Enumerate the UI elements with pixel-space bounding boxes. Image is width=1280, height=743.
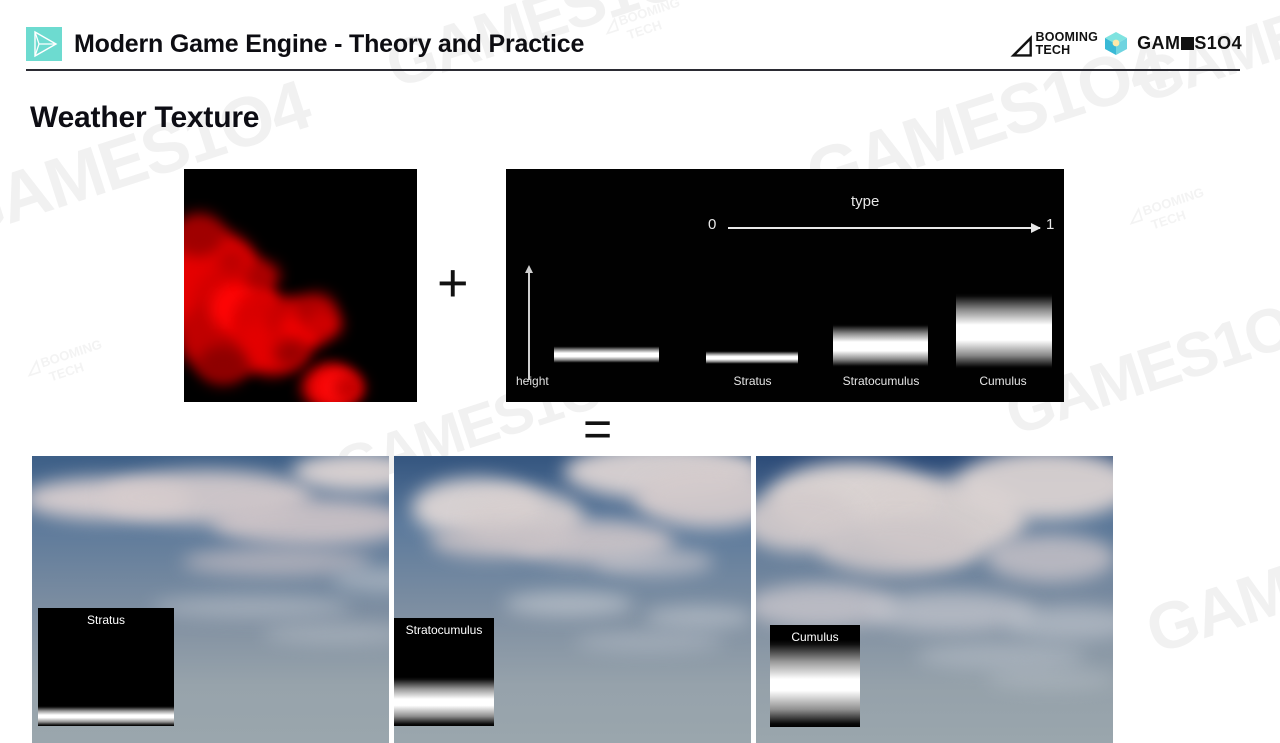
slide-header: Modern Game Engine - Theory and Practice…	[0, 0, 1280, 78]
stratocumulus-sky-photo: Stratocumulus	[394, 456, 751, 743]
games-text-after: S1O4	[1194, 33, 1242, 53]
booming-line2: TECH	[1035, 43, 1070, 57]
watermark-b-mark: ◿	[23, 357, 41, 377]
coverage-noise-texture	[184, 169, 417, 402]
type-axis-arrow	[728, 227, 1040, 229]
watermark-booming-line1: BOOMING	[39, 336, 104, 370]
plus-operator: +	[437, 256, 469, 310]
cloud-shape	[430, 524, 550, 558]
watermark-booming-tech: ◿BOOMING TECH	[23, 336, 108, 389]
games-cube-icon	[1103, 30, 1129, 56]
density-bar-stratocumulus	[833, 324, 928, 367]
bar-caption-stratocumulus: Stratocumulus	[826, 374, 936, 388]
cloud-shape	[644, 606, 751, 628]
cumulus-density-inset: Cumulus	[770, 625, 860, 727]
cloud-shape	[574, 632, 724, 652]
watermark-booming-line1: BOOMING	[1141, 184, 1206, 218]
cloud-shape	[594, 548, 714, 576]
booming-b-mark-icon: ◿	[1011, 31, 1031, 57]
games104-wordmark: GAMS1O4	[1137, 33, 1242, 54]
type-axis-label: type	[851, 193, 879, 210]
cloud-shape	[504, 592, 634, 616]
density-bar-stratus	[706, 351, 798, 364]
inset-caption-stratus: Stratus	[38, 613, 174, 627]
bar-caption-cumulus: Cumulus	[953, 374, 1053, 388]
cloud-shape	[986, 668, 1113, 690]
cloud-shape	[916, 642, 1086, 670]
brand-games104-logo: GAMS1O4	[1103, 30, 1242, 56]
booming-tech-wordmark: BOOMING TECH	[1035, 31, 1098, 57]
inset-caption-stratocumulus: Stratocumulus	[394, 623, 494, 637]
type-axis-max-label: 1	[1046, 216, 1054, 233]
equals-operator: =	[583, 404, 612, 454]
brand-booming-tech-logo: ◿ BOOMING TECH	[1011, 31, 1098, 57]
watermark-b-mark: ◿	[1125, 205, 1143, 225]
page-title: Weather Texture	[30, 101, 259, 135]
height-axis-label: height	[516, 374, 549, 388]
cloud-shape	[816, 518, 976, 574]
cloud-type-height-panel: type 0 1 height Stratus Stratocumulus Cu…	[506, 169, 1064, 402]
play-triangle-wireframe-icon	[26, 27, 62, 61]
bar-caption-stratus: Stratus	[705, 374, 800, 388]
inset-caption-cumulus: Cumulus	[770, 630, 860, 644]
cumulus-sky-photo: Cumulus	[756, 456, 1113, 743]
stratocumulus-density-inset: Stratocumulus	[394, 618, 494, 726]
inset-density-band	[394, 677, 494, 726]
watermark-booming-tech: ◿BOOMING TECH	[1125, 184, 1210, 237]
watermark-games-text: GAMES1O4	[1137, 488, 1280, 669]
watermark-booming-line2: TECH	[1149, 207, 1187, 232]
cloud-shape	[152, 596, 352, 618]
games-block-glyph	[1181, 37, 1194, 50]
result-photo-strip: Stratus Stratocumulus	[32, 456, 1117, 743]
cloud-shape	[986, 534, 1113, 582]
density-bar-cumulus	[956, 293, 1052, 369]
stratus-density-inset: Stratus	[38, 608, 174, 726]
inset-density-band	[770, 640, 860, 727]
header-title: Modern Game Engine - Theory and Practice	[74, 30, 584, 59]
type-axis-min-label: 0	[708, 216, 716, 233]
games-text-before: GAM	[1137, 33, 1180, 53]
inset-density-band	[38, 706, 174, 726]
height-axis-arrow	[528, 272, 530, 380]
density-bar-0	[554, 346, 659, 363]
stratus-sky-photo: Stratus	[32, 456, 389, 743]
watermark-booming-line2: TECH	[47, 359, 85, 384]
header-divider	[26, 69, 1240, 71]
